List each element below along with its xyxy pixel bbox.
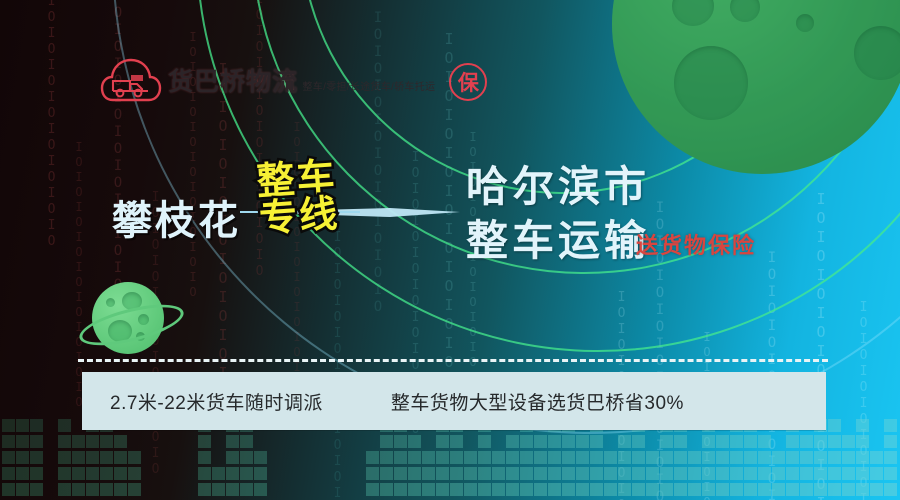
mosaic-cell: [562, 467, 575, 480]
mosaic-cell: [772, 483, 785, 496]
mosaic-cell: [30, 435, 43, 448]
mosaic-cell: [730, 483, 743, 496]
mosaic-cell: [632, 451, 645, 464]
mosaic-cell: [632, 467, 645, 480]
mosaic-cell: [772, 451, 785, 464]
mosaic-cell: [226, 483, 239, 496]
mosaic-cell: [212, 467, 225, 480]
mosaic-cell: [2, 483, 15, 496]
mosaic-cell: [16, 451, 29, 464]
mosaic-cell: [198, 451, 211, 464]
mosaic-cell: [520, 435, 533, 448]
mosaic-cell: [814, 451, 827, 464]
mosaic-cell: [450, 451, 463, 464]
mosaic-cell: [380, 451, 393, 464]
cloud-truck-icon: [100, 56, 162, 108]
mosaic-cell: [380, 435, 393, 448]
mosaic-cell: [786, 435, 799, 448]
mosaic-cell: [506, 435, 519, 448]
mosaic-cell: [534, 451, 547, 464]
mosaic-cell: [758, 483, 771, 496]
insurance-seal-icon: 保: [449, 63, 487, 101]
mosaic-cell: [72, 435, 85, 448]
mosaic-cell: [506, 467, 519, 480]
mosaic-cell: [814, 483, 827, 496]
mosaic-cell: [30, 483, 43, 496]
mosaic-cell: [786, 467, 799, 480]
mosaic-cell: [730, 451, 743, 464]
mosaic-cell: [660, 435, 673, 448]
mosaic-cell: [576, 451, 589, 464]
mosaic-cell: [212, 483, 225, 496]
brand-subtitle: 整车/零担/长途货车/轿车托运: [302, 82, 435, 93]
promo-poster: IOIOIOIOIOIOIOIOIOIOIOIOIOIOIOIOIOIOIOIO…: [0, 0, 900, 500]
mosaic-cell: [814, 435, 827, 448]
destination-service: 整车运输: [466, 214, 650, 268]
mosaic-cell: [394, 467, 407, 480]
mosaic-cell: [618, 435, 631, 448]
mosaic-cell: [674, 435, 687, 448]
mosaic-cell: [870, 483, 883, 496]
mosaic-cell: [758, 435, 771, 448]
mosaic-cell: [758, 451, 771, 464]
mosaic-cell: [198, 467, 211, 480]
mosaic-cell: [198, 483, 211, 496]
mosaic-cell: [114, 483, 127, 496]
mosaic-cell: [688, 483, 701, 496]
mosaic-cell: [86, 467, 99, 480]
mosaic-cell: [240, 467, 253, 480]
planet-crater: [674, 46, 748, 120]
mosaic-cell: [58, 467, 71, 480]
mosaic-cell: [114, 435, 127, 448]
mosaic-cell: [870, 467, 883, 480]
origin-city: 攀枝花: [112, 188, 241, 246]
mosaic-cell: [254, 483, 267, 496]
planet-shadow: [612, 0, 900, 174]
mosaic-cell: [114, 451, 127, 464]
mosaic-cell: [646, 467, 659, 480]
mosaic-cell: [534, 483, 547, 496]
mosaic-cell: [478, 451, 491, 464]
brand-name: 货巴桥物流: [168, 68, 298, 96]
mosaic-cell: [240, 451, 253, 464]
mosaic-cell: [702, 467, 715, 480]
mosaic-cell: [604, 467, 617, 480]
mosaic-cell: [450, 467, 463, 480]
mosaic-cell: [688, 467, 701, 480]
brand-logo[interactable]: 货巴桥物流 整车/零担/长途货车/轿车托运 保: [100, 56, 487, 108]
mosaic-cell: [800, 483, 813, 496]
mosaic-cell: [394, 435, 407, 448]
mosaic-cell: [856, 451, 869, 464]
mosaic-cell: [86, 483, 99, 496]
mosaic-cell: [478, 483, 491, 496]
mosaic-cell: [16, 483, 29, 496]
mosaic-cell: [100, 435, 113, 448]
mosaic-cell: [632, 435, 645, 448]
mosaic-cell: [408, 483, 421, 496]
mosaic-cell: [128, 467, 141, 480]
mosaic-cell: [436, 435, 449, 448]
mosaic-cell: [520, 451, 533, 464]
mosaic-cell: [688, 451, 701, 464]
mosaic-cell: [590, 451, 603, 464]
mosaic-cell: [828, 467, 841, 480]
mosaic-cell: [576, 467, 589, 480]
binary-code-column: IOIOIOIOIOIOIOIO: [44, 0, 59, 204]
mosaic-cell: [660, 451, 673, 464]
mosaic-cell: [548, 483, 561, 496]
mosaic-cell: [660, 483, 673, 496]
mosaic-cell: [86, 451, 99, 464]
mosaic-cell: [800, 451, 813, 464]
mosaic-cell: [576, 435, 589, 448]
mosaic-cell: [758, 467, 771, 480]
mosaic-cell: [478, 467, 491, 480]
mosaic-cell: [58, 483, 71, 496]
mosaic-cell: [86, 435, 99, 448]
mosaic-cell: [16, 419, 29, 432]
mosaic-cell: [590, 483, 603, 496]
info-bar: 2.7米-22米货车随时调派 整车货物大型设备选货巴桥省30%: [82, 372, 826, 430]
mosaic-cell: [730, 435, 743, 448]
mosaic-cell: [2, 435, 15, 448]
mosaic-cell: [30, 419, 43, 432]
mosaic-cell: [72, 451, 85, 464]
route-tag: 整车 专线: [256, 159, 341, 238]
mosaic-cell: [744, 451, 757, 464]
mosaic-cell: [702, 435, 715, 448]
mosaic-cell: [870, 451, 883, 464]
insurance-tag: 送货物保险: [636, 228, 756, 260]
mosaic-cell: [394, 451, 407, 464]
mosaic-cell: [576, 483, 589, 496]
mosaic-cell: [254, 451, 267, 464]
planet-crater: [106, 298, 115, 307]
mosaic-cell: [828, 451, 841, 464]
mosaic-cell: [506, 483, 519, 496]
mosaic-cell: [884, 467, 897, 480]
planet-crater: [854, 26, 900, 80]
mosaic-cell: [464, 483, 477, 496]
mosaic-cell: [464, 467, 477, 480]
mosaic-cell: [128, 483, 141, 496]
mosaic-cell: [58, 419, 71, 432]
mosaic-cell: [198, 435, 211, 448]
mosaic-cell: [422, 483, 435, 496]
mosaic-cell: [114, 467, 127, 480]
mosaic-cell: [226, 467, 239, 480]
mosaic-cell: [674, 483, 687, 496]
mosaic-cell: [16, 467, 29, 480]
mosaic-cell: [716, 483, 729, 496]
mosaic-cell: [380, 467, 393, 480]
mosaic-cell: [450, 435, 463, 448]
mosaic-cell: [254, 467, 267, 480]
mosaic-cell: [100, 467, 113, 480]
mosaic-cell: [366, 451, 379, 464]
mosaic-cell: [618, 467, 631, 480]
mosaic-cell: [590, 467, 603, 480]
mosaic-cell: [58, 451, 71, 464]
mosaic-cell: [716, 451, 729, 464]
info-bar-right-text: 整车货物大型设备选货巴桥省30%: [391, 388, 684, 415]
mosaic-cell: [604, 483, 617, 496]
mosaic-cell: [548, 451, 561, 464]
mosaic-cell: [408, 467, 421, 480]
mosaic-cell: [100, 483, 113, 496]
mosaic-cell: [842, 451, 855, 464]
mosaic-cell: [2, 419, 15, 432]
mosaic-cell: [562, 435, 575, 448]
mosaic-cell: [674, 451, 687, 464]
mosaic-cell: [2, 467, 15, 480]
mosaic-cell: [842, 435, 855, 448]
mosaic-cell: [562, 451, 575, 464]
mosaic-cell: [562, 483, 575, 496]
mosaic-cell: [408, 451, 421, 464]
dashed-divider: [78, 359, 828, 362]
mosaic-cell: [464, 451, 477, 464]
mosaic-cell: [828, 483, 841, 496]
mosaic-cell: [632, 483, 645, 496]
mosaic-cell: [436, 467, 449, 480]
mosaic-cell: [660, 467, 673, 480]
destination-city: 哈尔滨市: [466, 160, 650, 214]
mosaic-cell: [394, 483, 407, 496]
mosaic-cell: [800, 467, 813, 480]
mosaic-cell: [674, 467, 687, 480]
mosaic-cell: [786, 483, 799, 496]
mosaic-cell: [366, 467, 379, 480]
mosaic-cell: [366, 483, 379, 496]
mosaic-cell: [618, 483, 631, 496]
ringed-planet-icon: [92, 282, 164, 354]
mosaic-cell: [226, 435, 239, 448]
mosaic-cell: [226, 451, 239, 464]
mosaic-cell: [492, 451, 505, 464]
mosaic-cell: [646, 483, 659, 496]
mosaic-cell: [604, 451, 617, 464]
mosaic-cell: [492, 483, 505, 496]
mosaic-cell: [72, 483, 85, 496]
green-planet-icon: [612, 0, 900, 174]
mosaic-cell: [842, 483, 855, 496]
mosaic-cell: [856, 483, 869, 496]
mosaic-cell: [240, 435, 253, 448]
mosaic-cell: [828, 435, 841, 448]
destination-block: 哈尔滨市 整车运输: [466, 160, 650, 268]
mosaic-cell: [828, 419, 841, 432]
mosaic-cell: [646, 451, 659, 464]
mosaic-cell: [436, 483, 449, 496]
planet-crater: [796, 14, 814, 32]
mosaic-cell: [408, 435, 421, 448]
brand-text: 货巴桥物流 整车/零担/长途货车/轿车托运: [168, 69, 435, 95]
mosaic-cell: [884, 451, 897, 464]
mosaic-cell: [800, 435, 813, 448]
mosaic-cell: [884, 435, 897, 448]
mosaic-cell: [856, 419, 869, 432]
mosaic-cell: [100, 451, 113, 464]
mosaic-cell: [590, 435, 603, 448]
mosaic-cell: [548, 435, 561, 448]
route-tag-line-2: 专线: [258, 196, 340, 238]
mosaic-cell: [478, 435, 491, 448]
mosaic-cell: [30, 467, 43, 480]
mosaic-cell: [492, 467, 505, 480]
mosaic-cell: [702, 451, 715, 464]
mosaic-cell: [520, 483, 533, 496]
mosaic-cell: [814, 467, 827, 480]
mosaic-cell: [240, 483, 253, 496]
mosaic-cell: [884, 483, 897, 496]
mosaic-cell: [856, 467, 869, 480]
mosaic-cell: [520, 467, 533, 480]
mosaic-cell: [702, 483, 715, 496]
mosaic-cell: [716, 467, 729, 480]
binary-code-column: IOIOIOIOIOIOIOIOIO: [110, 0, 126, 318]
mosaic-cell: [450, 483, 463, 496]
mosaic-cell: [744, 435, 757, 448]
mosaic-cell: [548, 467, 561, 480]
mosaic-cell: [506, 451, 519, 464]
mosaic-cell: [128, 451, 141, 464]
mosaic-cell: [842, 467, 855, 480]
mosaic-cell: [744, 483, 757, 496]
mosaic-cell: [436, 451, 449, 464]
mosaic-cell: [534, 467, 547, 480]
binary-code-column: IOIOIOIOIOIOIOIOIO: [370, 10, 386, 310]
mosaic-cell: [730, 467, 743, 480]
mosaic-cell: [856, 435, 869, 448]
mosaic-cell: [422, 467, 435, 480]
mosaic-cell: [884, 419, 897, 432]
mosaic-cell: [772, 467, 785, 480]
mosaic-cell: [72, 467, 85, 480]
mosaic-cell: [2, 451, 15, 464]
mosaic-cell: [422, 451, 435, 464]
mosaic-cell: [380, 483, 393, 496]
mosaic-cell: [534, 435, 547, 448]
mosaic-cell: [618, 451, 631, 464]
info-bar-left-text: 2.7米-22米货车随时调派: [110, 388, 323, 415]
mosaic-cell: [30, 451, 43, 464]
mosaic-cell: [58, 435, 71, 448]
mosaic-cell: [16, 435, 29, 448]
mosaic-cell: [716, 435, 729, 448]
mosaic-cell: [744, 467, 757, 480]
mosaic-cell: [786, 451, 799, 464]
